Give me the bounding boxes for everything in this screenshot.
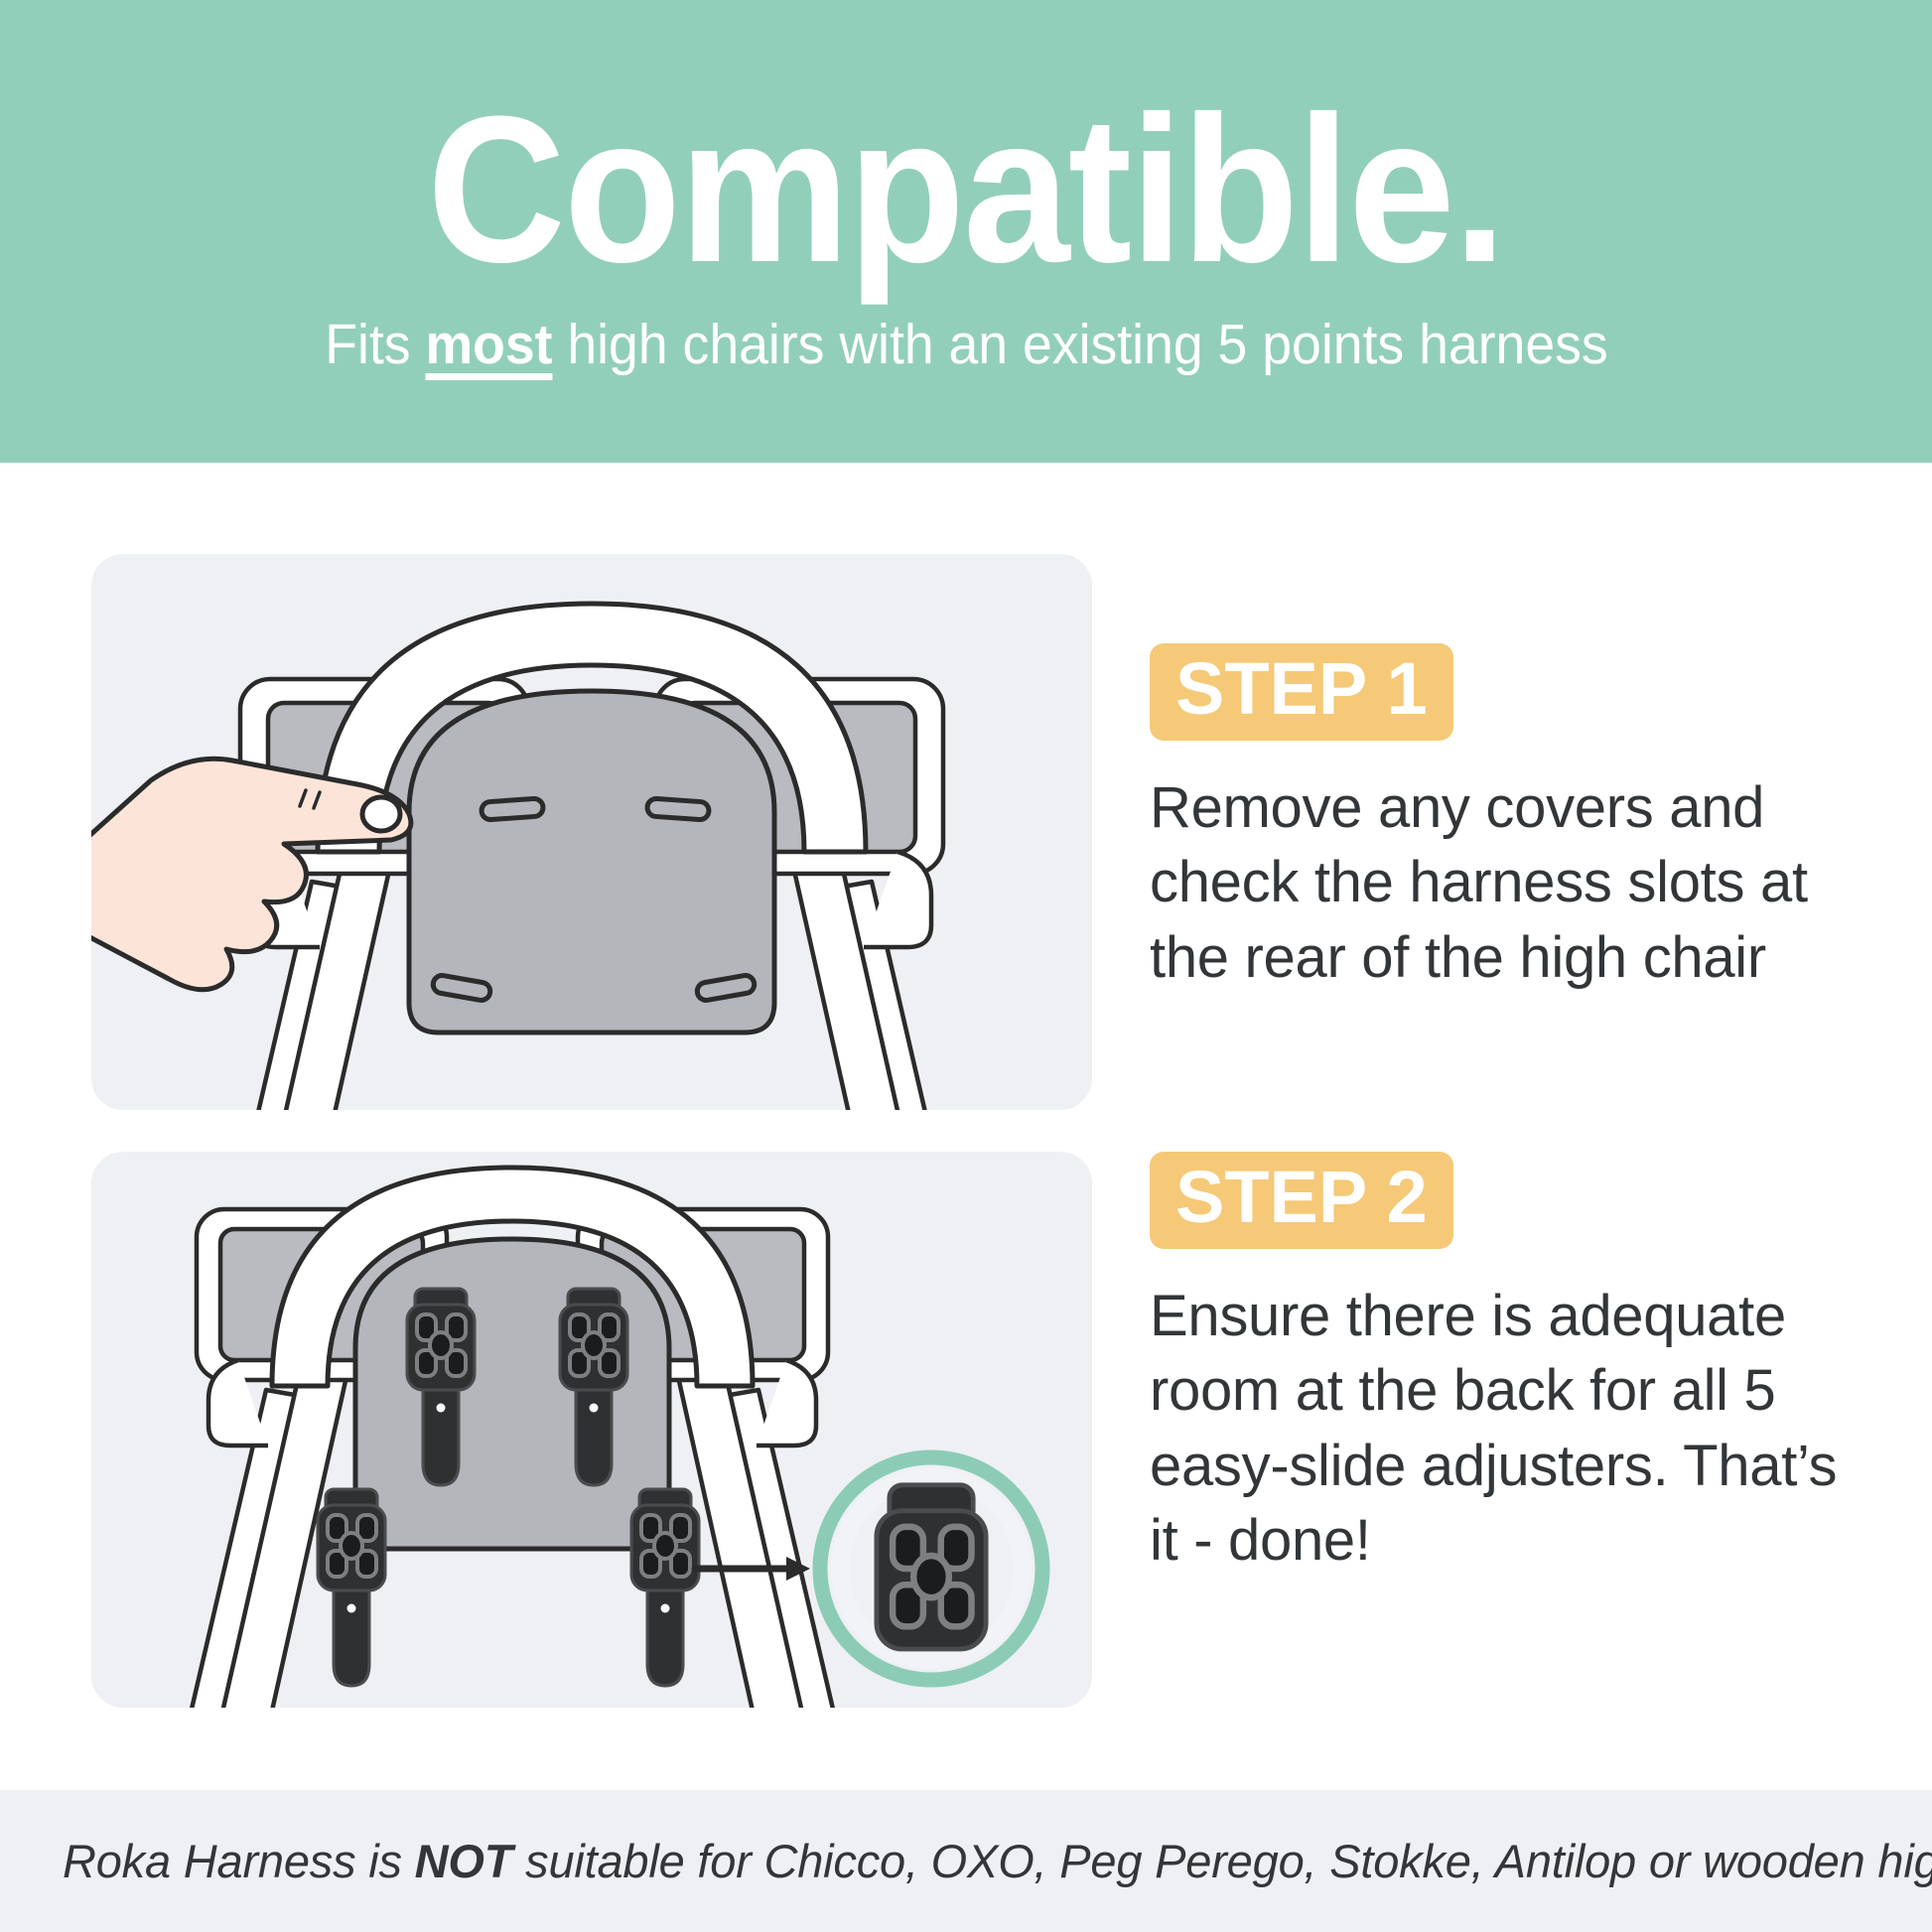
step-2-body-text: Ensure there is adequate room at the bac…	[1150, 1279, 1845, 1579]
step-1-text-column: STEP 1 Remove any covers and check the h…	[1150, 643, 1845, 995]
footer-part-before: Roka Harness is	[63, 1835, 415, 1887]
footer-emphasis: NOT	[415, 1835, 513, 1887]
footer-bar: Roka Harness is NOT suitable for Chicco,…	[0, 1790, 1932, 1932]
footer-disclaimer: Roka Harness is NOT suitable for Chicco,…	[0, 1834, 1932, 1888]
step-2-badge: STEP 2	[1150, 1152, 1453, 1249]
infographic-page: Compatible. Fits most high chairs with a…	[0, 0, 1932, 1932]
page-title: Compatible.	[427, 85, 1504, 294]
step-2-text-column: STEP 2 Ensure there is adequate room at …	[1150, 1152, 1845, 1579]
high-chair-rear-hand-illustration	[91, 554, 1092, 1110]
subtitle-part-before: Fits	[325, 313, 425, 376]
header-band: Compatible. Fits most high chairs with a…	[0, 0, 1932, 463]
subtitle-emphasis: most	[425, 313, 552, 376]
step-2-illustration-panel	[91, 1152, 1092, 1708]
step-1-badge: STEP 1	[1150, 643, 1453, 741]
step-1-body-text: Remove any covers and check the harness …	[1150, 770, 1845, 995]
step-1-illustration-panel	[91, 554, 1092, 1110]
step-row-2: STEP 2 Ensure there is adequate room at …	[0, 1152, 1932, 1708]
page-subtitle: Fits most high chairs with an existing 5…	[325, 312, 1607, 377]
subtitle-part-after: high chairs with an existing 5 points ha…	[552, 313, 1607, 376]
footer-part-after: suitable for Chicco, OXO, Peg Perego, St…	[512, 1835, 1932, 1887]
high-chair-adjusters-illustration	[91, 1152, 1092, 1708]
step-row-1: STEP 1 Remove any covers and check the h…	[0, 554, 1932, 1110]
